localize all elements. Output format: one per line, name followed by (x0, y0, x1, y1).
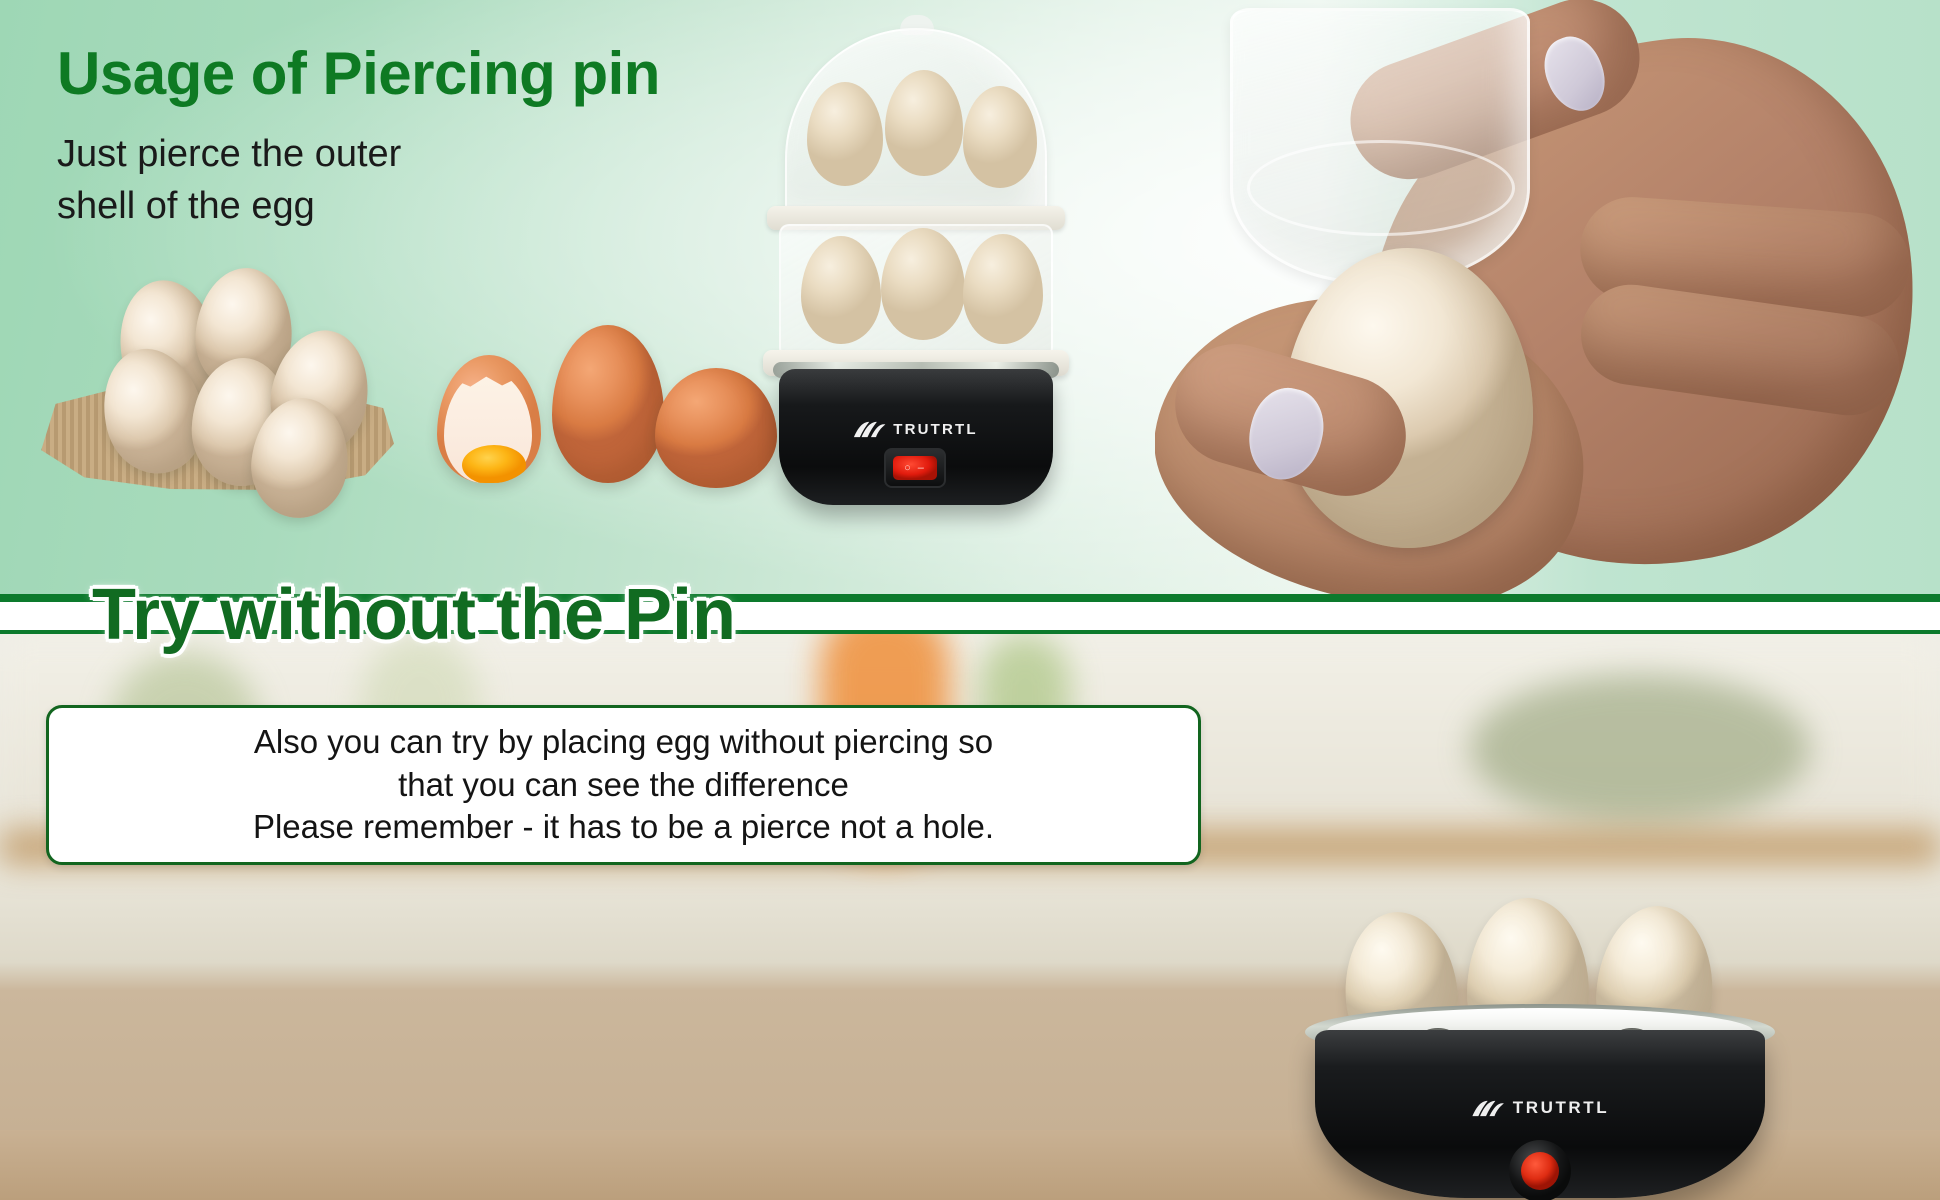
swoosh-icon (852, 420, 886, 439)
brown-egg (552, 325, 664, 483)
egg-cooker-bottom: TRUTRTL (1305, 912, 1775, 1200)
brand-logo-top: TRUTRTL (852, 420, 978, 439)
brand-logo-bottom: TRUTRTL (1471, 1098, 1610, 1118)
power-switch-top[interactable] (884, 448, 946, 488)
brand-name-bottom: TRUTRTL (1513, 1098, 1610, 1118)
top-panel-heading: Usage of Piercing pin (57, 42, 660, 105)
brand-name-top: TRUTRTL (893, 421, 978, 438)
measuring-cup-rim (1247, 140, 1515, 236)
egg-cooker-top: TRUTRTL (745, 28, 1085, 498)
note-line: Please remember - it has to be a pierce … (253, 806, 994, 849)
top-panel: Usage of Piercing pin Just pierce the ou… (0, 0, 1940, 598)
note-box: Also you can try by placing egg without … (46, 705, 1201, 865)
note-line: that you can see the difference (398, 764, 849, 807)
cracked-egg-interior (444, 371, 532, 483)
egg-yolk (462, 445, 526, 483)
power-switch-bottom[interactable] (1509, 1140, 1571, 1200)
cracked-egg-shell (437, 355, 541, 483)
hands-holding-cup-and-egg (1155, 0, 1940, 594)
top-panel-subtext: Just pierce the outer shell of the egg (57, 128, 401, 233)
kitchen-bowl-blur (1470, 674, 1810, 824)
infographic-page: Usage of Piercing pin Just pierce the ou… (0, 0, 1940, 1200)
swoosh-icon (1471, 1099, 1505, 1118)
bottom-panel-heading: Try without the Pin (92, 574, 736, 656)
note-line: Also you can try by placing egg without … (254, 721, 993, 764)
